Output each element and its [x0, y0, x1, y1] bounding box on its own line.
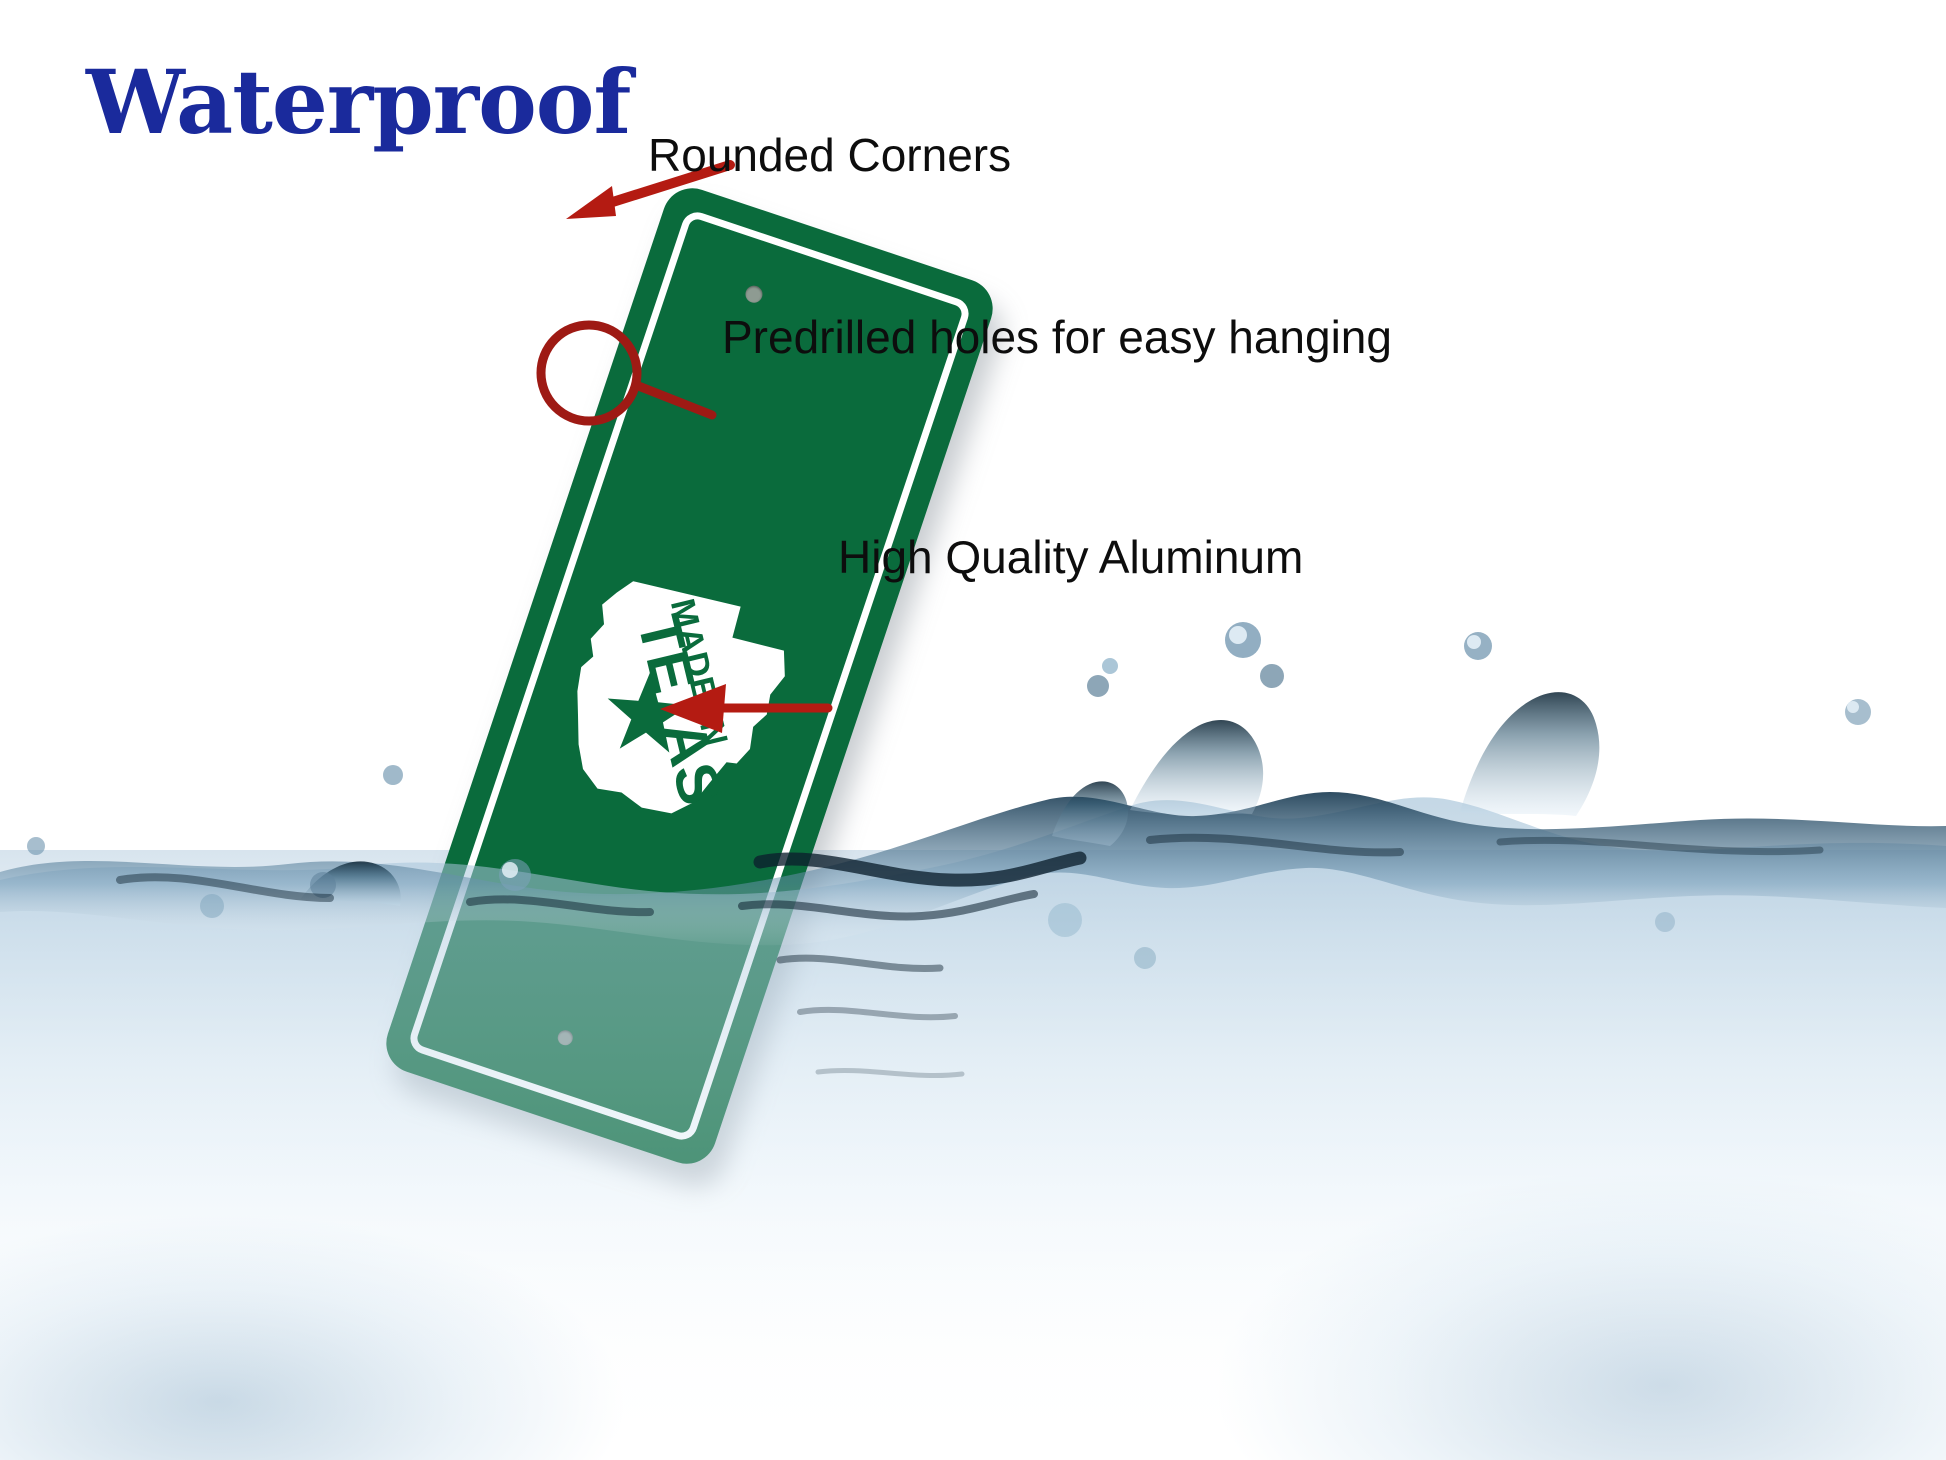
callout-predrilled-holes: Predrilled holes for easy hanging: [722, 310, 1392, 364]
callout-high-quality-aluminum: High Quality Aluminum: [838, 530, 1303, 584]
callout-rounded-corners: Rounded Corners: [648, 128, 1011, 182]
promo-image-stage: MADE IN TE AS: [0, 0, 1946, 1460]
water-depth-right: [1106, 990, 1946, 1460]
page-title: Waterproof: [86, 58, 630, 146]
